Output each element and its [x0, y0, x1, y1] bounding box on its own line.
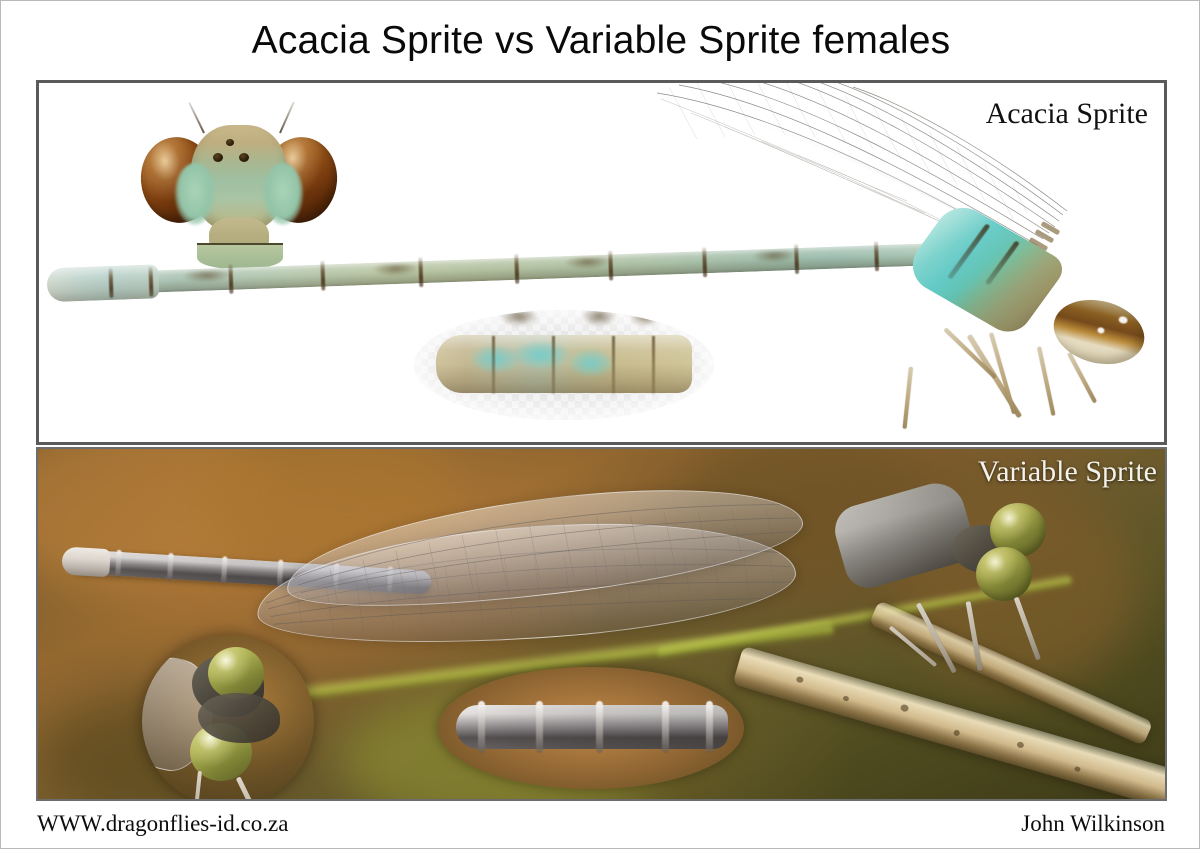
cheek-patch-left — [175, 163, 215, 225]
abdomen-ring — [221, 556, 228, 584]
inset-abdomen-body — [456, 705, 728, 749]
poster-root: Acacia Sprite vs Variable Sprite females — [0, 0, 1200, 849]
abdomen-blue-mark — [570, 350, 612, 376]
ocellus-median — [226, 139, 234, 146]
abdomen-blue-mark — [514, 342, 568, 368]
ocellus-left — [213, 153, 223, 162]
abdomen-tip-seam — [612, 336, 615, 394]
inset-abdomen-ring — [662, 701, 669, 753]
abdomen-tip-inset — [414, 310, 714, 420]
live-abdomen-tip — [61, 546, 111, 577]
abdomen-marking — [373, 263, 419, 277]
stem-speckle — [1016, 741, 1024, 749]
antenna-right-icon — [279, 102, 295, 134]
head-lateral — [1047, 291, 1151, 373]
abdomen-ring — [167, 553, 174, 581]
live-compound-eye-lower — [976, 547, 1032, 601]
inset-abdomen-ring — [706, 701, 713, 753]
abdomen-tip-marking — [630, 310, 660, 326]
panel-label-variable-sprite: Variable Sprite — [978, 457, 1157, 487]
abdomen-marking — [183, 270, 231, 284]
head-inset-circle — [142, 635, 314, 801]
panel-label-acacia-sprite: Acacia Sprite — [986, 99, 1148, 129]
thorax-stripe — [947, 223, 990, 279]
abdomen-tip-inset-oval — [438, 667, 744, 789]
abdomen-blue-mark — [472, 346, 518, 372]
live-wings-group — [256, 493, 816, 673]
habitat-background — [38, 449, 1165, 799]
stem-speckle — [1074, 766, 1081, 772]
stem-speckle — [900, 704, 910, 713]
abdomen-tip-seam — [652, 336, 655, 394]
inset-abdomen-ring — [596, 701, 603, 753]
footer-bar: WWW.dragonflies-id.co.za John Wilkinson — [1, 801, 1200, 849]
title-bar: Acacia Sprite vs Variable Sprite females — [1, 1, 1200, 79]
stem-speckle — [842, 695, 849, 701]
abdomen-marking — [752, 250, 796, 264]
thorax-lateral — [901, 199, 1070, 340]
panel-variable-sprite: Variable Sprite — [36, 447, 1167, 801]
inset-leg — [236, 776, 263, 801]
abdomen-ring — [115, 550, 122, 578]
inset-eye-upper — [208, 647, 264, 699]
abdomen-tip-marking — [500, 310, 538, 326]
abdomen-marking — [564, 257, 610, 271]
author-credit: John Wilkinson — [1021, 812, 1165, 835]
page-title: Acacia Sprite vs Variable Sprite females — [252, 21, 951, 60]
cheek-patch-right — [263, 163, 303, 225]
eye-highlight — [1097, 327, 1105, 335]
website-credit[interactable]: WWW.dragonflies-id.co.za — [37, 812, 288, 835]
inset-abdomen-ring — [478, 701, 485, 753]
antenna-left-icon — [188, 102, 205, 133]
abdomen-tip-seam — [552, 336, 555, 394]
inset-abdomen-ring — [536, 701, 543, 753]
eye-highlight — [1118, 315, 1128, 324]
stem-speckle — [953, 729, 960, 736]
abdomen-tip-marking — [582, 310, 616, 326]
panel-acacia-sprite: Acacia Sprite — [36, 80, 1167, 445]
inset-leg — [193, 771, 202, 801]
specimen-stage — [39, 83, 1164, 442]
abdomen-tip-segments — [46, 264, 159, 302]
thorax-stripe — [985, 240, 1020, 285]
ocellus-right — [239, 153, 249, 162]
abdomen-tip-seam — [492, 336, 495, 394]
head-front-view — [139, 109, 339, 269]
stem-speckle — [796, 676, 804, 684]
leg-tarsus — [903, 367, 913, 429]
leg-tarsus — [1037, 347, 1055, 416]
live-head — [946, 507, 1062, 603]
